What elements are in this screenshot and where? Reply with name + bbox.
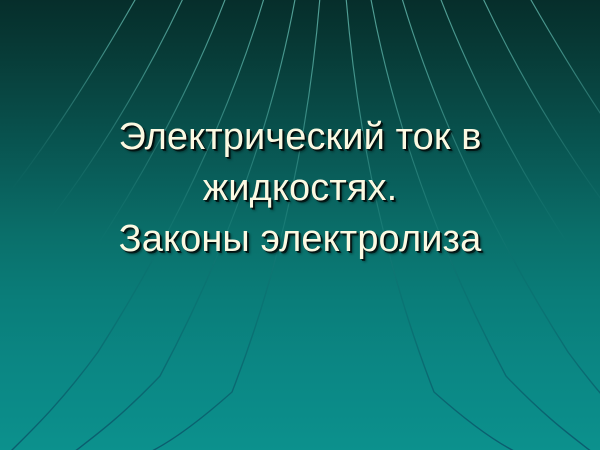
slide-title-line-2: жидкостях. xyxy=(203,163,398,214)
slide-title-line-3: Законы электролиза xyxy=(119,214,482,265)
title-slide: Электрический ток в жидкостях. Законы эл… xyxy=(0,0,600,450)
slide-title-block: Электрический ток в жидкостях. Законы эл… xyxy=(0,0,600,450)
slide-title-line-1: Электрический ток в xyxy=(118,112,481,163)
